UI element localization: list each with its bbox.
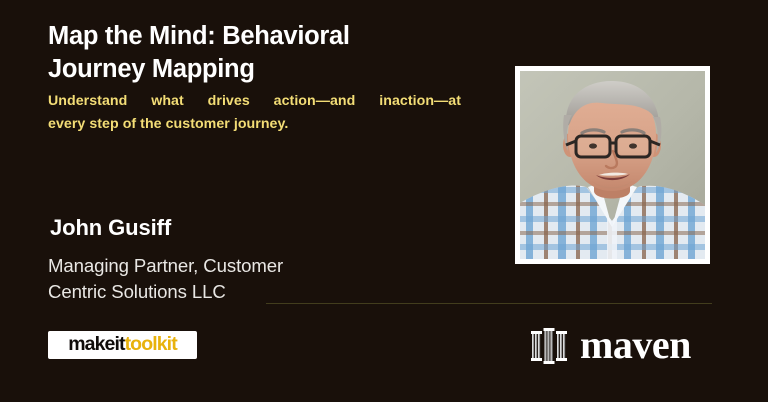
columns-icon (530, 327, 568, 365)
makeittoolkit-logo: makeittoolkit (48, 331, 197, 359)
speaker-role: Managing Partner, Customer Centric Solut… (48, 253, 378, 306)
speaker-role-line-1: Managing Partner, Customer (48, 253, 378, 279)
maven-logo: maven (530, 324, 691, 368)
speaker-name: John Gusiff (50, 215, 171, 241)
divider (266, 303, 712, 304)
makeittoolkit-wordmark-dark: makeit (68, 333, 124, 355)
page-subtitle: Understand what drives action—and inacti… (48, 90, 461, 136)
speaker-role-line-2: Centric Solutions LLC (48, 279, 378, 305)
makeittoolkit-wordmark-accent: toolkit (125, 333, 177, 355)
page-title-line-1: Map the Mind: Behavioral (48, 20, 468, 53)
page-subtitle-line-2: every step of the customer journey. (48, 113, 461, 136)
makeittoolkit-wordmark: makeittoolkit (68, 335, 177, 355)
avatar (520, 71, 705, 259)
page-subtitle-line-1: Understand what drives action—and inacti… (48, 90, 461, 113)
page-title: Map the Mind: Behavioral Journey Mapping (48, 20, 468, 85)
page-title-line-2: Journey Mapping (48, 53, 468, 86)
webinar-promo-card: Map the Mind: Behavioral Journey Mapping… (0, 0, 768, 402)
speaker-photo-frame (515, 66, 710, 264)
maven-wordmark: maven (580, 325, 691, 365)
